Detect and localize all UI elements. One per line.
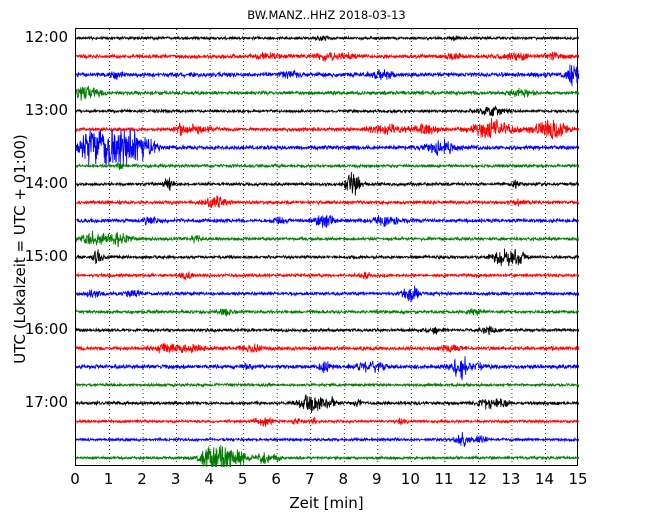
trace-16-15 (76, 343, 579, 353)
trace-13-45 (76, 163, 579, 170)
trace-17-30 (76, 432, 579, 447)
x-axis-tick-8: 8 (338, 470, 348, 488)
y-axis-tick-12-00: 12:00 (25, 28, 68, 46)
x-axis-tick-6: 6 (271, 470, 281, 488)
x-axis-tick-2: 2 (137, 470, 147, 488)
x-axis-tick-11: 11 (434, 470, 453, 488)
y-axis-tick-14-00: 14:00 (25, 174, 68, 192)
plot-axes (75, 28, 578, 466)
trace-14-00 (76, 172, 579, 196)
trace-16-45 (76, 383, 579, 386)
trace-17-00 (76, 394, 579, 413)
trace-14-45 (76, 231, 579, 248)
trace-12-30 (76, 65, 579, 86)
y-axis-tick-17-00: 17:00 (25, 393, 68, 411)
x-axis-tick-labels: 0123456789101112131415 (0, 470, 650, 492)
trace-13-30 (76, 130, 579, 165)
trace-15-45 (76, 308, 579, 316)
seismogram-figure: BW.MANZ..HHZ 2018-03-13 UTC (Lokalzeit =… (0, 0, 650, 520)
trace-14-30 (76, 215, 579, 228)
trace-12-45 (76, 86, 579, 101)
x-axis-tick-7: 7 (305, 470, 315, 488)
x-axis-tick-3: 3 (171, 470, 181, 488)
trace-canvas (76, 29, 579, 467)
trace-12-00 (76, 35, 579, 41)
y-axis-tick-labels: 12:0013:0014:0015:0016:0017:00 (0, 0, 68, 520)
x-axis-tick-9: 9 (372, 470, 382, 488)
y-axis-tick-13-00: 13:00 (25, 101, 68, 119)
trace-12-15 (76, 52, 579, 62)
trace-17-15 (76, 417, 579, 427)
trace-17-45 (76, 445, 579, 467)
x-axis-tick-12: 12 (468, 470, 487, 488)
trace-16-30 (76, 356, 579, 380)
x-axis-tick-1: 1 (104, 470, 114, 488)
x-axis-tick-10: 10 (401, 470, 420, 488)
trace-15-30 (76, 286, 579, 303)
trace-13-00 (76, 107, 579, 117)
trace-13-15 (76, 118, 579, 139)
x-axis-tick-15: 15 (568, 470, 587, 488)
y-axis-tick-15-00: 15:00 (25, 247, 68, 265)
trace-14-15 (76, 196, 579, 208)
x-axis-tick-0: 0 (70, 470, 80, 488)
y-axis-tick-16-00: 16:00 (25, 320, 68, 338)
x-axis-tick-13: 13 (501, 470, 520, 488)
x-axis-tick-5: 5 (238, 470, 248, 488)
plot-title: BW.MANZ..HHZ 2018-03-13 (75, 8, 578, 22)
x-axis-label: Zeit [min] (75, 494, 578, 512)
x-axis-tick-14: 14 (535, 470, 554, 488)
x-axis-tick-4: 4 (204, 470, 214, 488)
trace-16-00 (76, 326, 579, 335)
trace-15-00 (76, 249, 579, 267)
trace-15-15 (76, 272, 579, 281)
